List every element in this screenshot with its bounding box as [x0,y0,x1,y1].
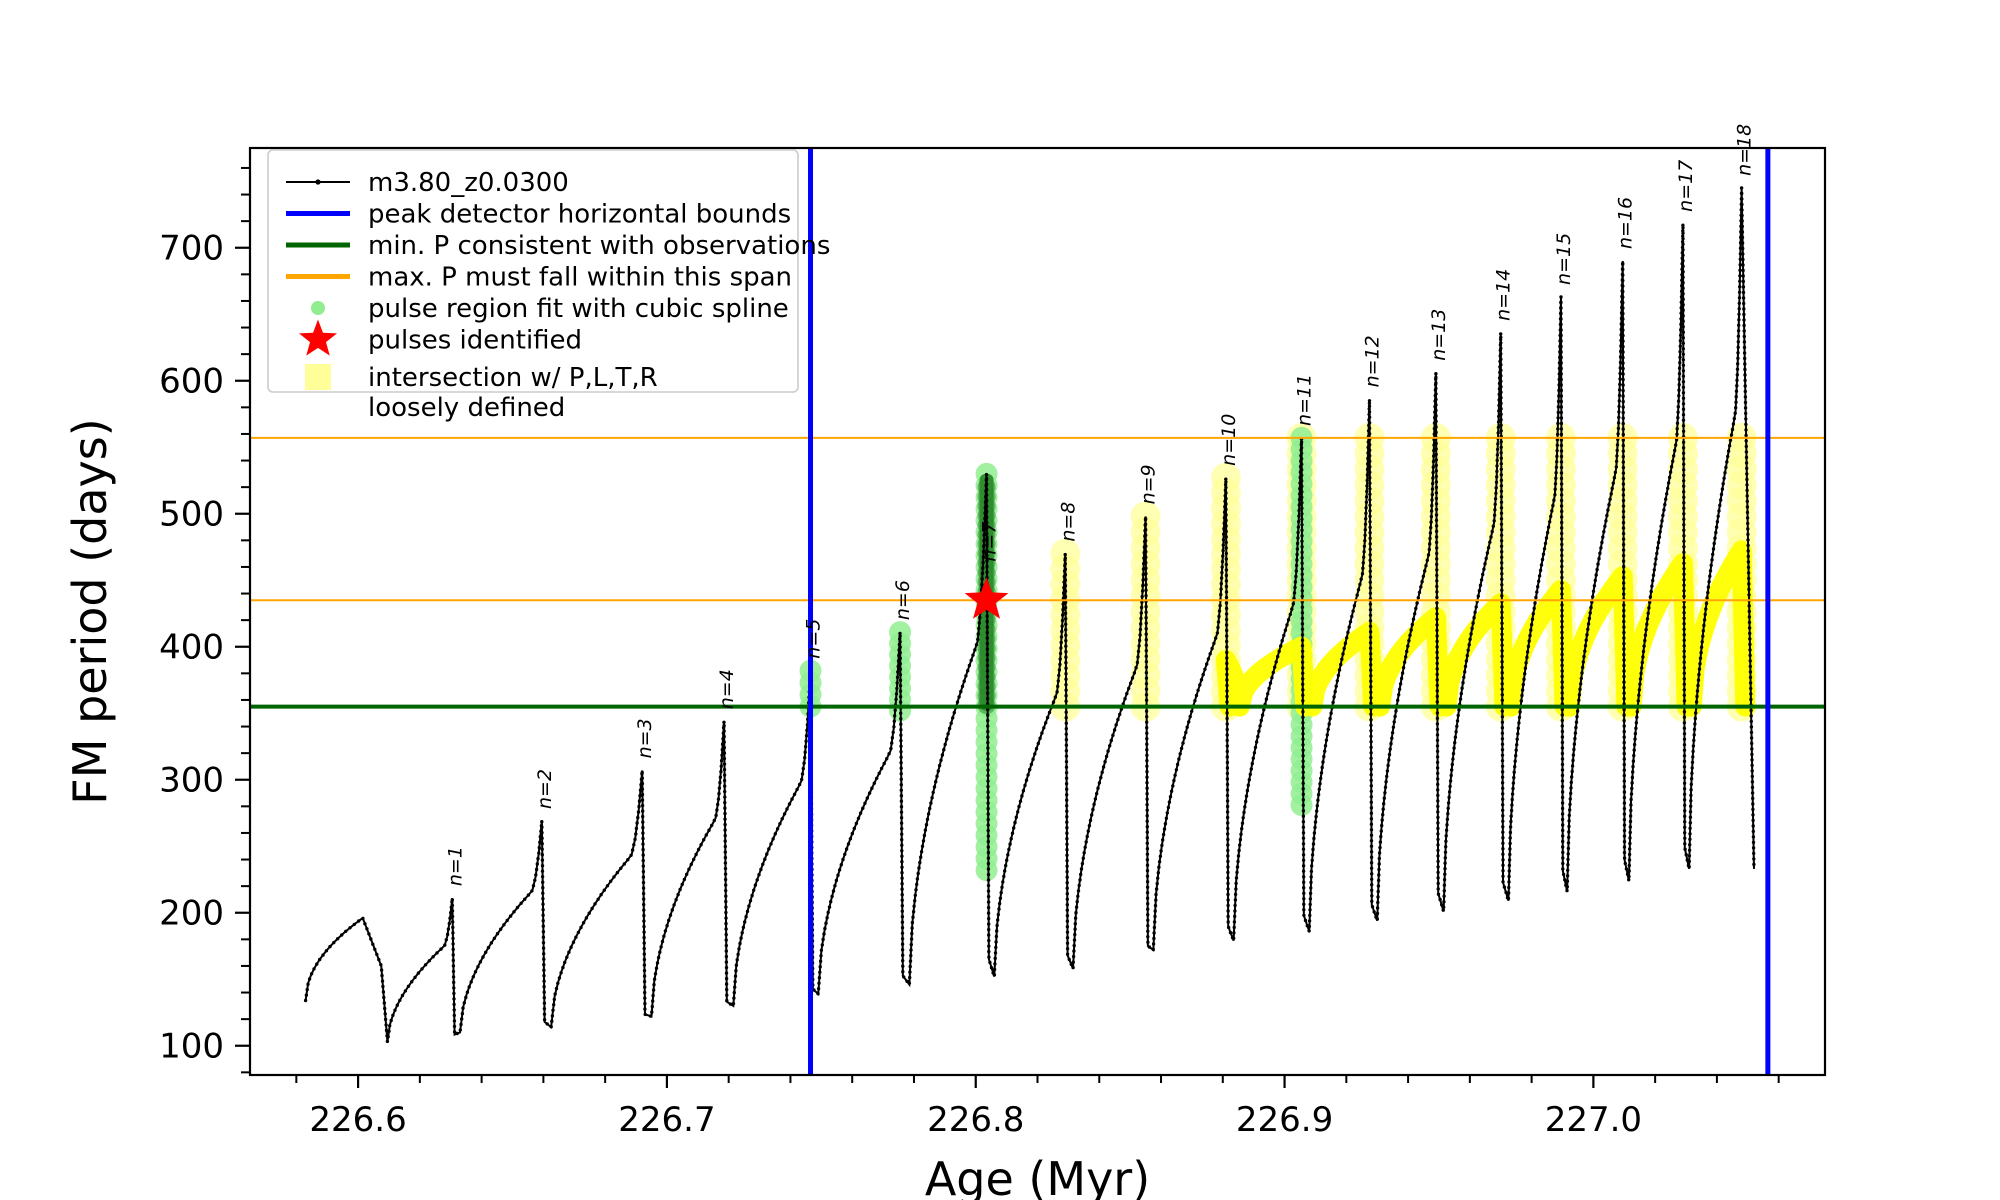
x-tick-label: 227.0 [1545,1100,1642,1140]
pulse-annotation: n=4 [716,669,738,709]
y-tick-label: 100 [159,1027,224,1067]
pulse-annotation: n=8 [1057,502,1079,542]
pulse-annotation: n=6 [892,580,914,620]
x-axis-title: Age (Myr) [925,1152,1150,1200]
pulse-annotation: n=13 [1428,309,1450,361]
y-tick-label: 700 [159,229,224,269]
legend-label: m3.80_z0.0300 [368,168,569,198]
pulse-annotation: n=11 [1294,374,1316,426]
legend-label: intersection w/ P,L,T,R [368,363,658,393]
x-tick-label: 226.9 [1236,1100,1333,1140]
x-tick-label: 226.8 [927,1100,1024,1140]
y-tick-label: 200 [159,894,224,934]
legend-swatch-dot [311,301,325,315]
fm-period-vs-age-chart: n=1n=2n=3n=4n=5n=6n=7n=8n=9n=10n=11n=12n… [0,0,2000,1200]
pulse-annotation: n=18 [1734,124,1756,176]
legend-swatch-dot [315,179,320,184]
pulse-annotation: n=17 [1675,160,1697,212]
pulse-annotation: n=15 [1553,233,1575,285]
legend-swatch-square [305,364,331,390]
x-tick-label: 226.6 [309,1100,406,1140]
y-axis-title: FM period (days) [63,418,117,804]
y-tick-label: 400 [159,628,224,668]
pulse-annotation: n=9 [1138,464,1160,504]
pulse-annotation: n=2 [534,769,556,809]
chart-legend: m3.80_z0.0300peak detector horizontal bo… [268,150,830,423]
legend-label: pulse region fit with cubic spline [368,294,789,324]
pulse-annotation: n=12 [1361,335,1383,387]
y-tick-label: 600 [159,362,224,402]
x-tick-label: 226.7 [618,1100,715,1140]
legend-label: peak detector horizontal bounds [368,200,791,230]
pulse-annotation: n=10 [1218,414,1240,466]
legend-label: loosely defined [368,393,565,423]
legend-label: min. P consistent with observations [368,231,830,261]
pulse-annotation: n=16 [1615,197,1637,249]
pulse-annotation: n=3 [634,718,656,758]
y-tick-label: 500 [159,495,224,535]
y-tick-label: 300 [159,761,224,801]
pulse-annotation: n=14 [1493,269,1515,321]
legend-label: pulses identified [368,326,582,356]
pulse-annotation: n=5 [803,619,825,659]
legend-label: max. P must fall within this span [368,263,792,293]
figure-canvas: n=1n=2n=3n=4n=5n=6n=7n=8n=9n=10n=11n=12n… [0,0,2000,1200]
pulse-annotation: n=7 [979,522,1001,562]
pulse-annotation: n=1 [444,846,466,886]
